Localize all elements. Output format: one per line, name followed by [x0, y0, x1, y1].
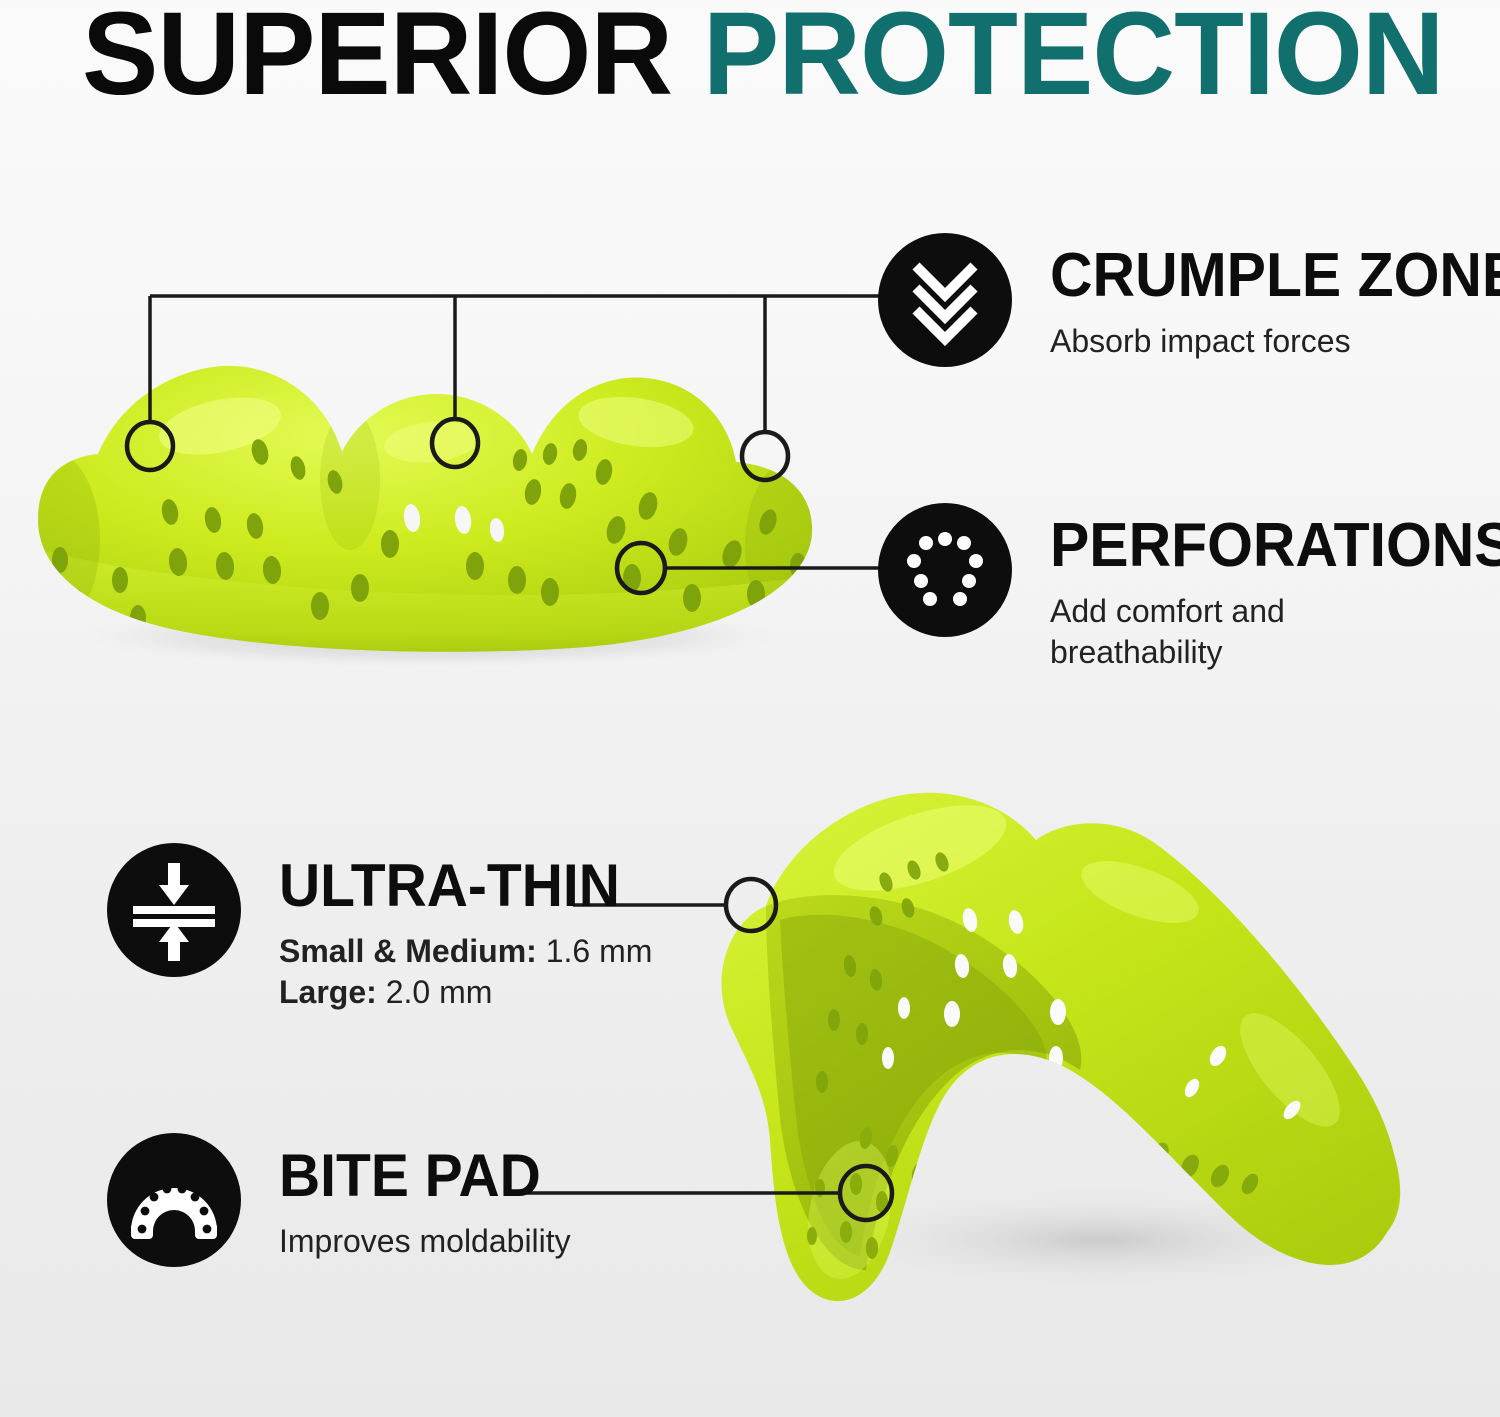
- callout-subtitle-perforations: Add comfort and breathability: [1050, 591, 1500, 673]
- callout-subtitle-perforations-line-1: Add comfort and: [1050, 591, 1500, 632]
- chevrons-down-icon: [878, 233, 1012, 367]
- callout-crumple-zones: CRUMPLE ZONES Absorb impact forces: [878, 233, 1500, 367]
- page-title-part-1: SUPERIOR: [82, 0, 672, 120]
- callout-title-ultra-thin: ULTRA-THIN: [279, 855, 634, 917]
- callout-perforations: PERFORATIONS Add comfort and breathabili…: [878, 503, 1500, 673]
- callout-bite-pad: BITE PAD Improves moldability: [107, 1133, 571, 1267]
- callout-title-bite-pad: BITE PAD: [279, 1145, 556, 1207]
- thickness-arrows-icon: [107, 843, 241, 977]
- mouthguard-angled-view: [670, 770, 1470, 1310]
- callout-subtitle-crumple-zones: Absorb impact forces: [1050, 321, 1500, 362]
- page-title: SUPERIOR PROTECTION: [82, 0, 1444, 110]
- callout-title-crumple-zones: CRUMPLE ZONES: [1050, 245, 1500, 307]
- callout-subtitle-perforations-line-2: breathability: [1050, 632, 1500, 673]
- spec-label-small-medium: Small & Medium:: [279, 933, 537, 969]
- page-title-part-2: PROTECTION: [703, 0, 1444, 120]
- spec-value-small-medium: 1.6 mm: [546, 933, 653, 969]
- spec-row-large: Large: 2.0 mm: [279, 972, 652, 1013]
- spec-label-large: Large:: [279, 974, 377, 1010]
- callout-subtitle-bite-pad: Improves moldability: [279, 1221, 571, 1262]
- dot-arch-icon: [878, 503, 1012, 637]
- callout-specs-ultra-thin: Small & Medium: 1.6 mm Large: 2.0 mm: [279, 931, 652, 1013]
- callout-title-perforations: PERFORATIONS: [1050, 515, 1500, 577]
- spec-value-large: 2.0 mm: [386, 974, 493, 1010]
- callout-ultra-thin: ULTRA-THIN Small & Medium: 1.6 mm Large:…: [107, 843, 652, 1013]
- dental-arch-icon: [107, 1133, 241, 1267]
- spec-row-small-medium: Small & Medium: 1.6 mm: [279, 931, 652, 972]
- mouthguard-front-view: [20, 330, 890, 670]
